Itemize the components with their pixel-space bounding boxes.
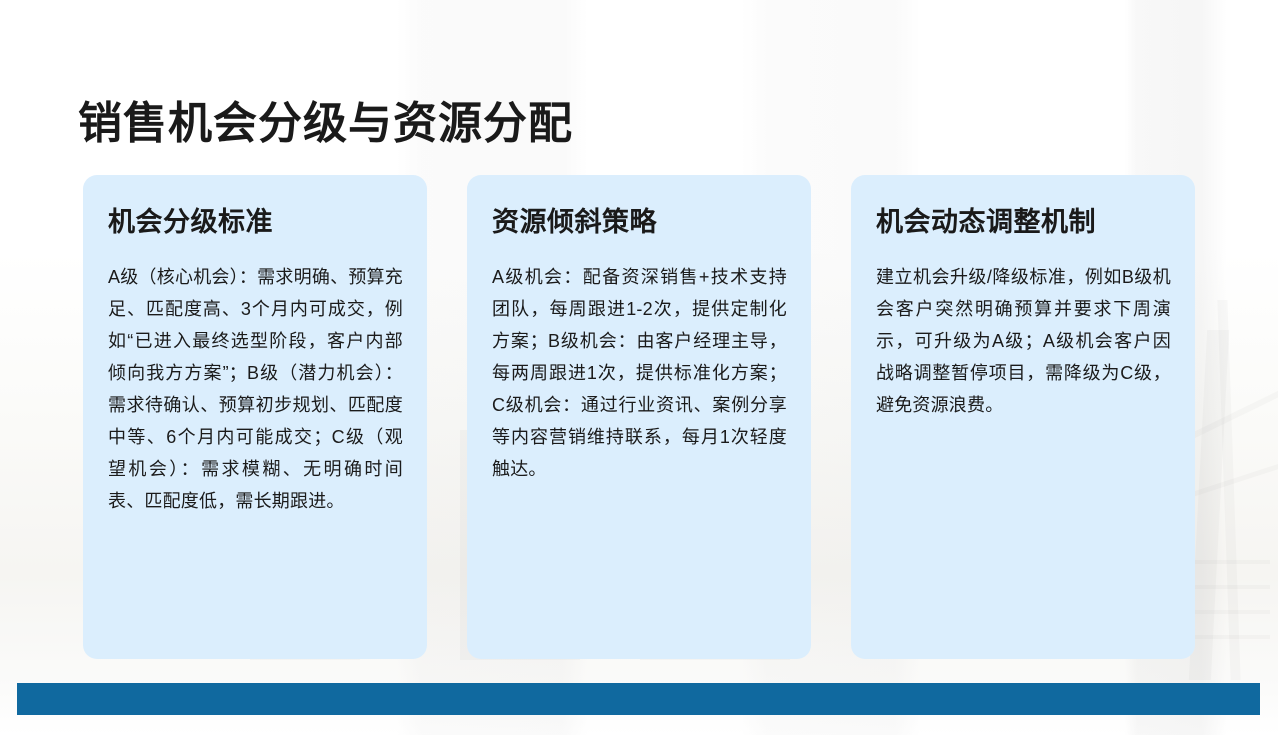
card-body-text: A级（核心机会）：需求明确、预算充足、匹配度高、3个月内可成交，例如“已进入最终… [108,261,403,517]
card-heading: 机会动态调整机制 [876,205,1171,239]
page-title: 销售机会分级与资源分配 [78,95,573,153]
card-heading: 资源倾斜策略 [492,205,787,239]
slide-canvas: 销售机会分级与资源分配 机会分级标准 A级（核心机会）：需求明确、预算充足、匹配… [0,0,1278,735]
background-crane-column [1217,300,1240,680]
background-scaffold-4 [1190,635,1270,639]
background-scaffold-1 [1190,560,1270,564]
card-body-text: 建立机会升级/降级标准，例如B级机会客户突然明确预算并要求下周演示，可升级为A级… [876,261,1171,421]
card-dynamic-adjustment: 机会动态调整机制 建立机会升级/降级标准，例如B级机会客户突然明确预算并要求下周… [851,175,1195,659]
background-scaffold-2 [1190,585,1270,589]
card-resource-allocation: 资源倾斜策略 A级机会：配备资深销售+技术支持团队，每周跟进1-2次，提供定制化… [467,175,811,659]
bottom-accent-bar [17,683,1260,715]
background-scaffold-3 [1190,610,1270,614]
card-heading: 机会分级标准 [108,205,403,239]
card-opportunity-grading: 机会分级标准 A级（核心机会）：需求明确、预算充足、匹配度高、3个月内可成交，例… [83,175,427,659]
background-crane-brace [1183,445,1278,499]
card-body-text: A级机会：配备资深销售+技术支持团队，每周跟进1-2次，提供定制化方案；B级机会… [492,261,787,485]
card-group: 机会分级标准 A级（核心机会）：需求明确、预算充足、匹配度高、3个月内可成交，例… [83,175,1195,659]
